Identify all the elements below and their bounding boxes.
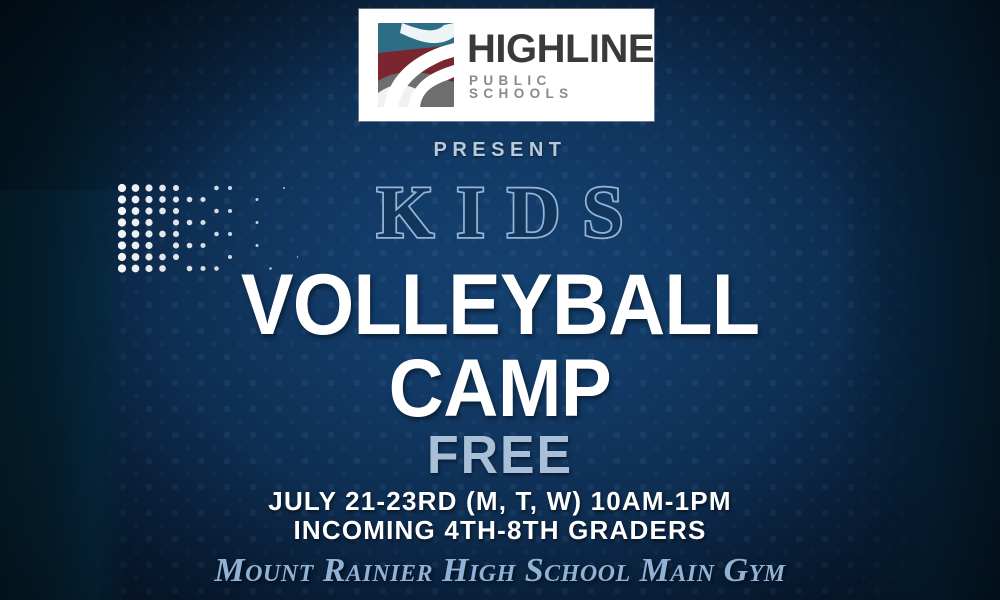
logo-card: HIGHLINE PUBLIC SCHOOLS <box>359 9 654 121</box>
dates-line: JULY 21-23RD (M, T, W) 10AM-1PM <box>0 486 1000 517</box>
volleyball-heading: VOLLEYBALL <box>40 262 960 348</box>
highline-logo-mark-icon <box>378 23 454 107</box>
free-badge: FREE <box>20 428 980 482</box>
poster-content: HIGHLINE PUBLIC SCHOOLS PRESENT KIDS VOL… <box>0 0 1000 600</box>
grades-line: INCOMING 4TH-8TH GRADERS <box>0 515 1000 546</box>
camp-heading: CAMP <box>35 348 965 430</box>
kids-heading: KIDS <box>0 176 1000 250</box>
logo-title: HIGHLINE <box>467 30 654 68</box>
logo-wordmark: HIGHLINE PUBLIC SCHOOLS <box>467 30 654 101</box>
present-label: PRESENT <box>0 139 1000 162</box>
logo-subtitle: PUBLIC SCHOOLS <box>469 74 654 101</box>
venue-line: Mount Rainier High School Main Gym <box>0 552 1000 590</box>
volleyball-camp-flyer: HIGHLINE PUBLIC SCHOOLS PRESENT KIDS VOL… <box>0 0 1000 600</box>
